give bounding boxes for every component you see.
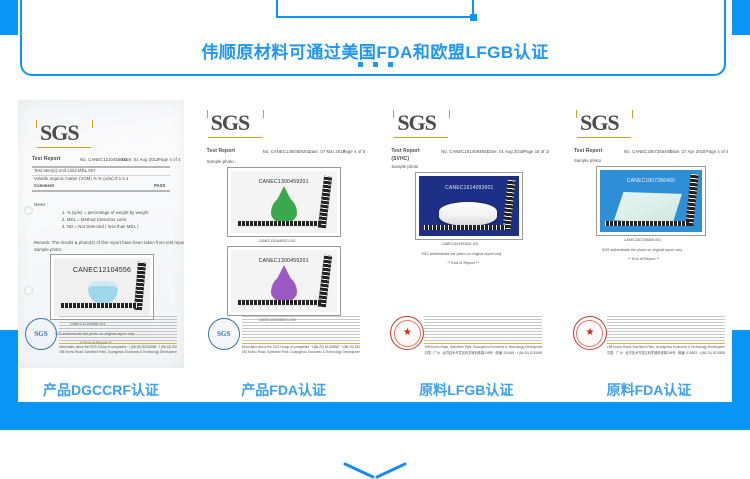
note-item: 3. ND = Not Detected ( less than MDL ): [62, 224, 139, 229]
sample-photo-caption: CANEC1807286400-001: [624, 238, 661, 242]
report-title: Test Report: [574, 148, 603, 154]
certificate-card[interactable]: SGS Test Report No. CANEC1300459201 Date…: [201, 100, 367, 400]
sample-photo-code: CANEC1300459201: [231, 258, 337, 264]
sgs-logo-icon: SGS: [211, 112, 250, 134]
ciq-seal-icon: ★: [390, 316, 424, 350]
certificate-caption: 原料FDA认证: [607, 380, 692, 400]
report-page: Page 4 of 4: [706, 149, 729, 154]
report-number: No. CANEC1300459201: [263, 149, 311, 154]
sample-photo: CANEC12104556: [50, 254, 154, 320]
end-of-report-text: ** End of Report **: [447, 261, 479, 265]
sgs-seal-icon: SGS: [25, 318, 57, 350]
table-result-label: Comment: [34, 183, 54, 188]
footer-band: [0, 402, 750, 430]
sample-photo-code: CANEC1300459201: [231, 179, 337, 185]
report-page: Page 4 of 4: [158, 157, 181, 162]
report-number: No. CANEC1807265400: [624, 149, 672, 154]
report-title: Test Report: [391, 148, 420, 154]
notes-label: Notes :: [34, 202, 48, 207]
certificate-footer: SGS Information about the SGS Group of c…: [25, 314, 177, 358]
certificate-card[interactable]: SGS Test Report No. CANEC1210455601 Date…: [18, 100, 184, 400]
report-subtitle: (SVHC): [391, 156, 409, 162]
edge-bar-top-right: [732, 0, 750, 35]
note-item: 2. MDL = Method Detection Limit: [62, 217, 126, 222]
authenticate-text: SGS authenticate the photo on original r…: [602, 248, 682, 252]
table-header: Test Item(s) Unit Limit MDL 007: [34, 168, 96, 173]
certificate-card[interactable]: SGS Test Report No. CANEC1807265400 Date…: [566, 100, 732, 400]
report-number: No. CANEC1614093601: [441, 149, 489, 154]
chevron-down-icon[interactable]: [342, 462, 408, 479]
header-dot: [373, 62, 378, 67]
sgs-seal-icon: SGS: [208, 318, 240, 350]
certificate-list: SGS Test Report No. CANEC1210455601 Date…: [0, 100, 750, 400]
page-title: 权威认证: [317, 0, 433, 2]
header-subtitle: 伟顺原材料可通过美国FDA和欧盟LFGB认证: [0, 38, 750, 63]
note-item: 1. % (w/w) = percentage of weight by wei…: [62, 210, 148, 215]
report-page: Page 16 of 16: [523, 149, 549, 154]
header-corner-tick: [470, 14, 477, 21]
sample-photo: CANEC1300459201: [227, 246, 341, 316]
ciq-seal-icon: ★: [573, 316, 607, 350]
remark-text: Remark: The results & photo(s) of this r…: [34, 240, 184, 245]
report-page: Page 4 of 5: [343, 149, 366, 154]
edge-bar-top-left: [0, 0, 18, 35]
certificate-footer: ★ 198 Kezhu Road, Scientech Park, Guangz…: [573, 314, 725, 358]
sgs-logo-icon: SGS: [40, 122, 79, 144]
report-title: Test Report: [207, 148, 236, 154]
report-number: No. CANEC1210455601: [80, 157, 128, 162]
sample-photo-code: CANEC12104556: [54, 267, 150, 274]
table-row: Volatile organic matter (VOM) % % (w/w) …: [34, 176, 129, 181]
certificate-image-4[interactable]: SGS Test Report No. CANEC1807265400 Date…: [566, 100, 732, 368]
header-title-box: 权威认证: [276, 0, 474, 18]
certification-section: 权威认证 伟顺原材料可通过美国FDA和欧盟LFGB认证 SGS Test Rep…: [0, 0, 750, 479]
table-result-value: PASS: [154, 183, 166, 188]
sample-photo: CANEC1614093601: [415, 172, 523, 240]
sample-label: Sample photo :: [207, 159, 237, 164]
authenticate-text: SGS authenticate the photo on original r…: [421, 252, 501, 256]
hole-punch-icon: [24, 206, 33, 215]
certificate-image-2[interactable]: SGS Test Report No. CANEC1300459201 Date…: [201, 100, 367, 368]
certificate-caption: 原料LFGB认证: [419, 380, 513, 400]
certificate-caption: 产品DGCCRF认证: [43, 380, 159, 400]
certificate-image-1[interactable]: SGS Test Report No. CANEC1210455601 Date…: [18, 100, 184, 368]
sample-label: Sample photo: [391, 164, 418, 169]
header-dot: [388, 62, 393, 67]
certificate-caption: 产品FDA认证: [241, 380, 326, 400]
sample-photo-code: CANEC1807286400: [600, 178, 702, 184]
sgs-logo-icon: SGS: [397, 112, 436, 134]
sgs-logo-icon: SGS: [580, 112, 619, 134]
report-date: Date: 01 Aug 2012: [122, 157, 158, 162]
header-dots: [0, 62, 750, 67]
hole-punch-icon: [24, 286, 33, 295]
certificate-footer: SGS Information about the SGS Group of c…: [208, 314, 360, 358]
certificate-card[interactable]: SGS Test Report (SVHC) No. CANEC16140936…: [383, 100, 549, 400]
sample-photo-caption: CANEC1300459201-001: [259, 239, 296, 243]
sample-photo: CANEC1300459201: [227, 167, 341, 237]
sample-label: Sample photo :: [34, 247, 64, 252]
sample-photo: CANEC1807286400: [596, 166, 706, 236]
report-date: Date: 01 Aug 2016: [487, 149, 523, 154]
certificate-image-3[interactable]: SGS Test Report (SVHC) No. CANEC16140936…: [383, 100, 549, 368]
sample-label: Sample photo: [574, 158, 601, 163]
sample-photo-caption: CANEC1614093601-001: [441, 242, 478, 246]
header-dot: [358, 62, 363, 67]
certificate-footer: ★ 198 Kezhu Road, Scientech Park, Guangz…: [390, 314, 542, 358]
report-date: Date: 27 Apr 2018: [670, 149, 705, 154]
report-date: Date: 07 Mar 2013: [309, 149, 345, 154]
end-of-report-text: ** End of Report **: [628, 257, 660, 261]
report-title: Test Report: [32, 156, 61, 162]
sample-photo-code: CANEC1614093601: [419, 185, 519, 191]
